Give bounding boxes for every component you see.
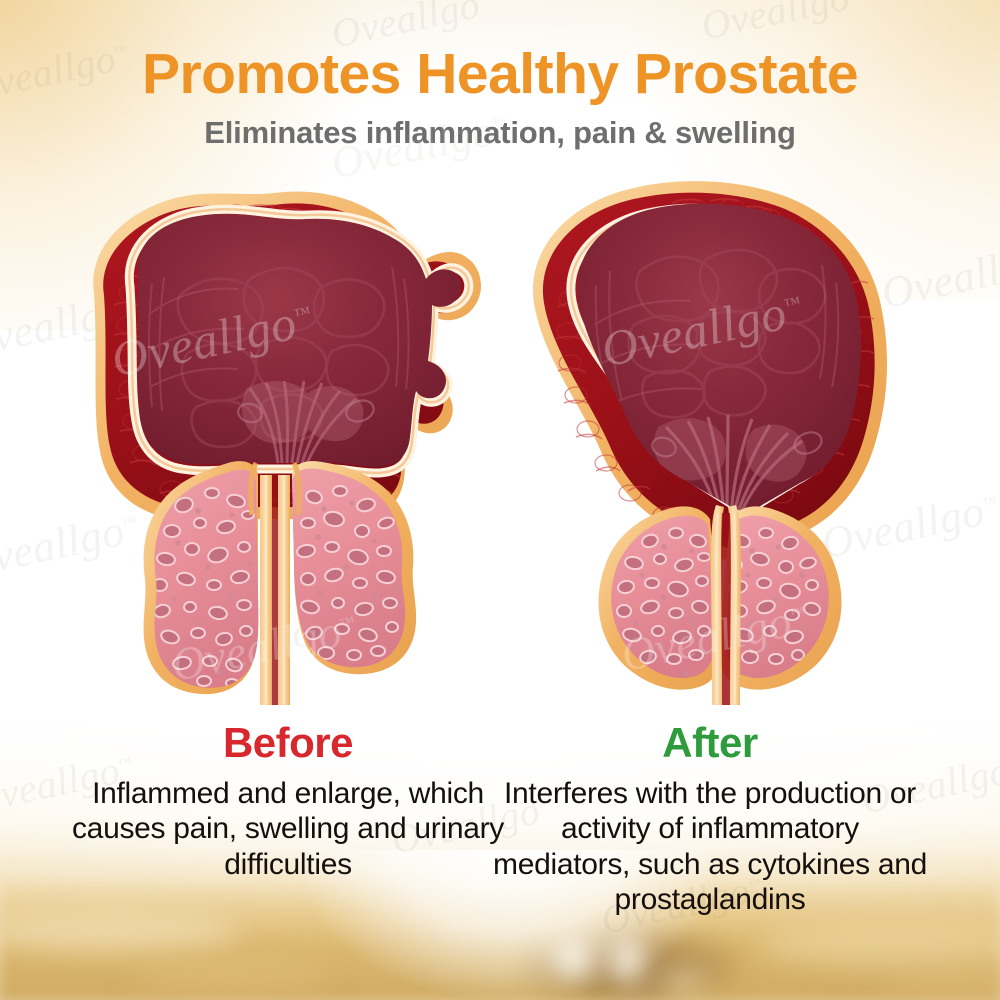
before-description: Inflammed and enlarge, which causes pain… xyxy=(68,764,508,882)
after-label: After xyxy=(490,722,930,764)
before-illustration xyxy=(60,175,530,720)
comparison-figures xyxy=(0,175,1000,720)
urethra-lumen xyxy=(272,475,278,705)
before-label: Before xyxy=(68,722,508,764)
header: Promotes Healthy Prostate Eliminates inf… xyxy=(0,0,1000,148)
page-subtitle: Eliminates inflammation, pain & swelling xyxy=(0,103,1000,148)
after-caption: After Interferes with the production or … xyxy=(490,722,930,918)
after-description: Interferes with the production or activi… xyxy=(490,764,930,918)
urethra-lumen xyxy=(721,513,731,705)
page-title: Promotes Healthy Prostate xyxy=(0,0,1000,103)
after-illustration xyxy=(500,175,970,720)
captions: Before Inflammed and enlarge, which caus… xyxy=(0,722,1000,1000)
before-caption: Before Inflammed and enlarge, which caus… xyxy=(68,722,508,882)
infographic-canvas: Oveallgo™ Oveallgo™ Oveallgo™ Oveallgo™ … xyxy=(0,0,1000,1000)
